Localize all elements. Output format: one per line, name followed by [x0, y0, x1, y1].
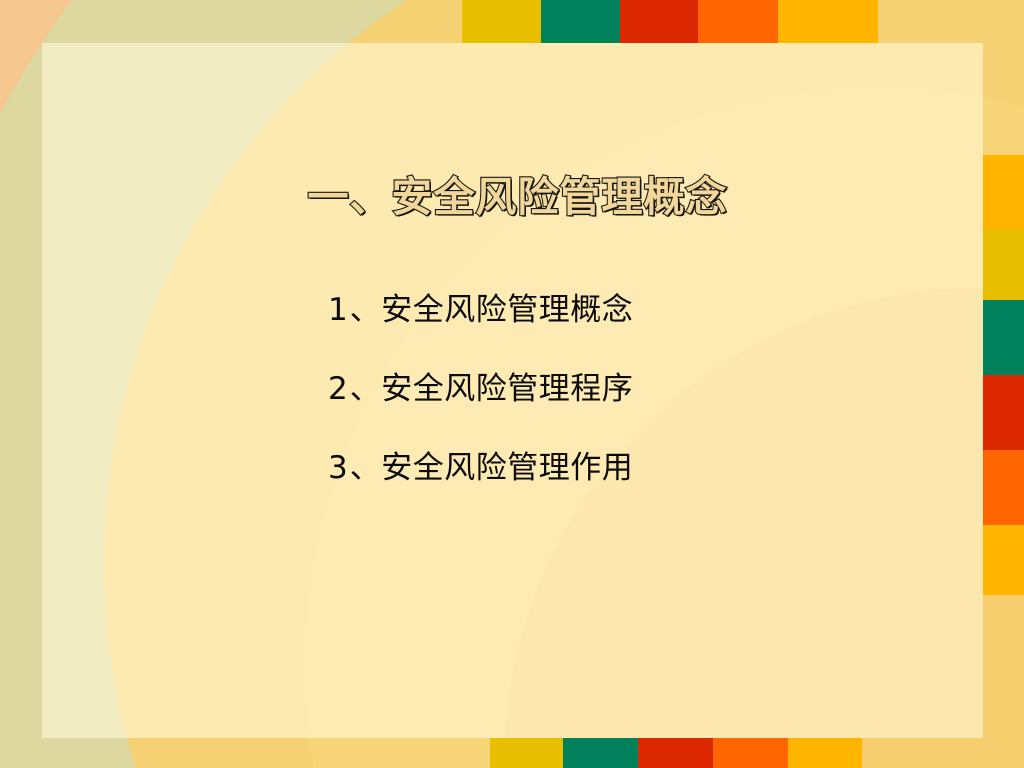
list-item-number: 2: [328, 371, 350, 407]
right-stripe-gold: [983, 230, 1024, 300]
top-stripe-green: [541, 0, 620, 43]
top-stripe-orange: [698, 0, 778, 43]
top-stripe-gold: [462, 0, 541, 43]
bullet-list: 1、安全风险管理概念 2、安全风险管理程序 3、安全风险管理作用: [328, 295, 948, 532]
list-item-separator: 、: [350, 450, 382, 486]
bottom-stripe-orange: [713, 738, 788, 768]
list-item: 3、安全风险管理作用: [328, 453, 948, 484]
bottom-stripe-amber: [788, 738, 862, 768]
list-item-label: 安全风险管理概念: [381, 292, 633, 328]
right-stripe-green: [983, 300, 1024, 375]
list-item-label: 安全风险管理作用: [381, 450, 633, 486]
top-stripe-amber: [778, 0, 878, 43]
list-item-separator: 、: [350, 371, 382, 407]
right-stripe-amber-top: [983, 155, 1024, 230]
right-stripe-red: [983, 375, 1024, 450]
presentation-slide: 一、安全风险管理概念 1、安全风险管理概念 2、安全风险管理程序 3、安全风险管…: [0, 0, 1024, 768]
list-item-label: 安全风险管理程序: [381, 371, 633, 407]
right-stripe-amber-bottom: [983, 525, 1024, 595]
list-item-number: 1: [328, 292, 350, 328]
list-item: 1、安全风险管理概念: [328, 295, 948, 326]
right-stripe-orange: [983, 450, 1024, 525]
list-item-number: 3: [328, 450, 350, 486]
list-item: 2、安全风险管理程序: [328, 374, 948, 405]
slide-content-panel: 一、安全风险管理概念 1、安全风险管理概念 2、安全风险管理程序 3、安全风险管…: [42, 43, 983, 738]
title-block: 一、安全风险管理概念: [42, 163, 983, 223]
top-stripe-red: [620, 0, 698, 43]
bottom-stripe-gold: [490, 738, 563, 768]
page-title: 一、安全风险管理概念: [308, 163, 728, 223]
list-item-separator: 、: [350, 292, 382, 328]
bottom-stripe-green: [563, 738, 638, 768]
bottom-stripe-red: [638, 738, 713, 768]
